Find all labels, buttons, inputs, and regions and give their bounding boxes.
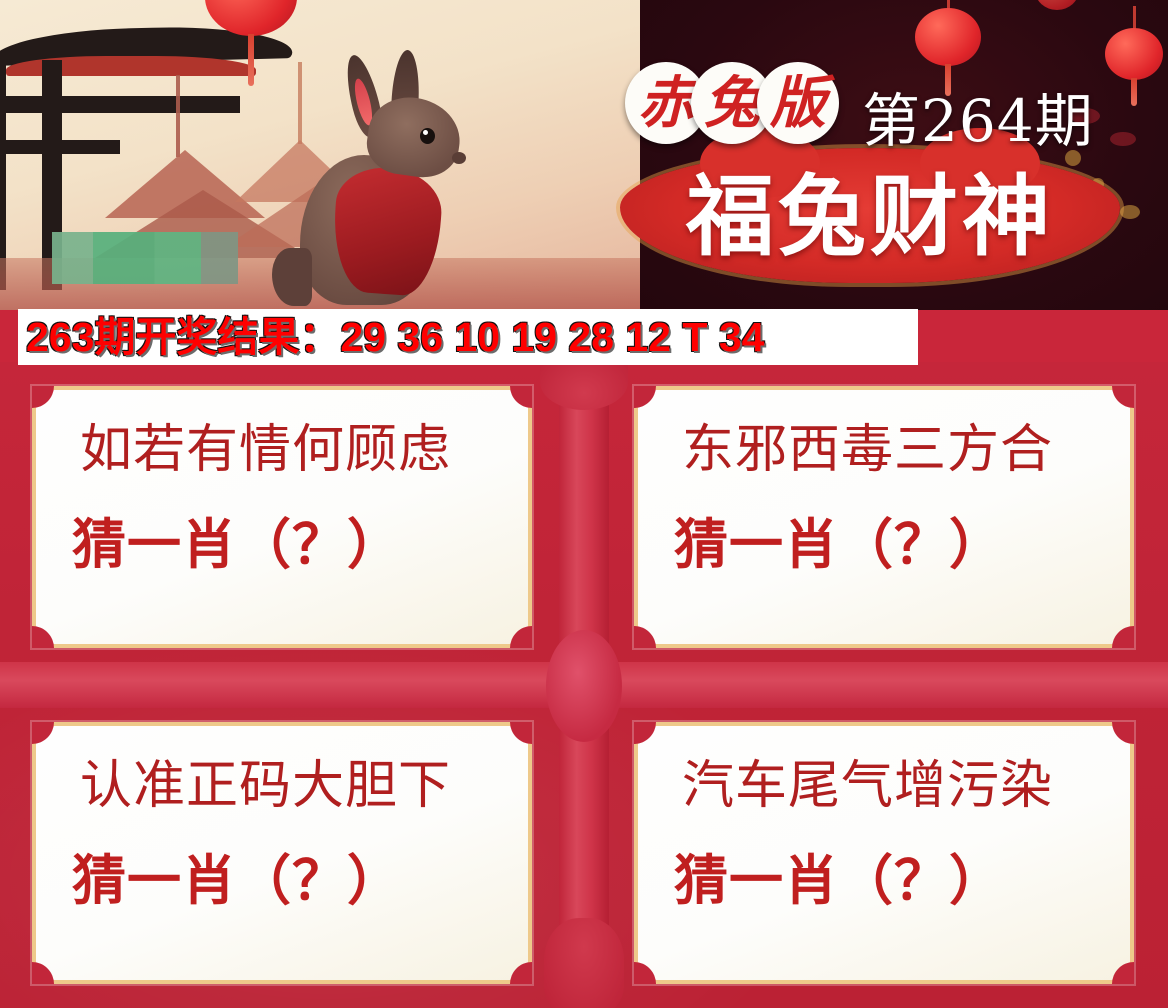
page-title: 福兔财神 — [686, 172, 1054, 260]
riddle-answer-prompt[interactable]: 猜一肖（？） — [674, 518, 1004, 572]
riddle-board: 如若有情何顾虑 猜一肖（？） 东邪西毒三方合 猜一肖（？） 认准正码大胆下 猜一… — [0, 362, 1168, 1008]
edition-badge: 赤 兔 版 — [625, 62, 823, 144]
rabbit-mascot-eye — [420, 128, 435, 144]
riddle-card[interactable]: 汽车尾气增污染 猜一肖（？） — [634, 722, 1134, 984]
pagoda-spire-two — [298, 62, 302, 144]
lantern-tassel-three — [1131, 78, 1137, 106]
ribbon-center-knot — [546, 630, 622, 742]
riddle-answer-prompt[interactable]: 猜一肖（？） — [72, 854, 402, 908]
riddle-text: 东邪西毒三方合 — [682, 424, 1053, 476]
mosaic-censor-block — [52, 232, 238, 284]
card-corner-notch-br — [510, 962, 532, 984]
card-corner-notch-bl — [634, 962, 656, 984]
red-lantern-icon-three — [1105, 28, 1163, 80]
card-corner-notch-br — [1112, 962, 1134, 984]
gold-fleck-three — [1120, 205, 1140, 219]
blossom-sprig-two — [1110, 132, 1136, 146]
rabbit-mascot-tail — [272, 248, 312, 306]
poster-root: 赤 兔 版 第264期 福兔财神 263期开奖结果：29 36 10 19 28… — [0, 0, 1168, 1008]
riddle-text: 认准正码大胆下 — [80, 760, 451, 812]
riddle-text: 如若有情何顾虑 — [80, 424, 451, 476]
pagoda-spire-one — [176, 75, 180, 157]
card-corner-notch-br — [510, 626, 532, 648]
riddle-text: 汽车尾气增污染 — [682, 760, 1053, 812]
riddle-answer-prompt[interactable]: 猜一肖（？） — [72, 518, 402, 572]
title-plaque: 福兔财神 — [620, 148, 1120, 283]
red-lantern-icon-two — [915, 8, 981, 66]
lantern-cord-three — [1133, 6, 1136, 30]
riddle-card[interactable]: 如若有情何顾虑 猜一肖（？） — [32, 386, 532, 648]
riddle-card[interactable]: 东邪西毒三方合 猜一肖（？） — [634, 386, 1134, 648]
card-corner-notch-bl — [634, 626, 656, 648]
rabbit-mascot-nose — [452, 152, 466, 164]
result-banner: 263期开奖结果：29 36 10 19 28 12 T 34 — [18, 309, 918, 365]
torii-gate-post-left — [0, 60, 6, 290]
red-lantern-icon-four — [1035, 0, 1079, 10]
riddle-card[interactable]: 认准正码大胆下 猜一肖（？） — [32, 722, 532, 984]
edition-badge-char-3: 版 — [757, 62, 839, 144]
ribbon-bottom-cap — [544, 918, 624, 1008]
hero-banner: 赤 兔 版 第264期 福兔财神 — [0, 0, 1168, 310]
card-corner-notch-br — [1112, 626, 1134, 648]
card-corner-notch-bl — [32, 626, 54, 648]
issue-number-label: 第264期 — [862, 92, 1094, 150]
riddle-answer-prompt[interactable]: 猜一肖（？） — [674, 854, 1004, 908]
torii-gate-beam — [0, 96, 240, 113]
result-banner-text: 263期开奖结果：29 36 10 19 28 12 T 34 — [18, 317, 764, 358]
card-corner-notch-bl — [32, 962, 54, 984]
lantern-tassel-one — [248, 34, 254, 86]
